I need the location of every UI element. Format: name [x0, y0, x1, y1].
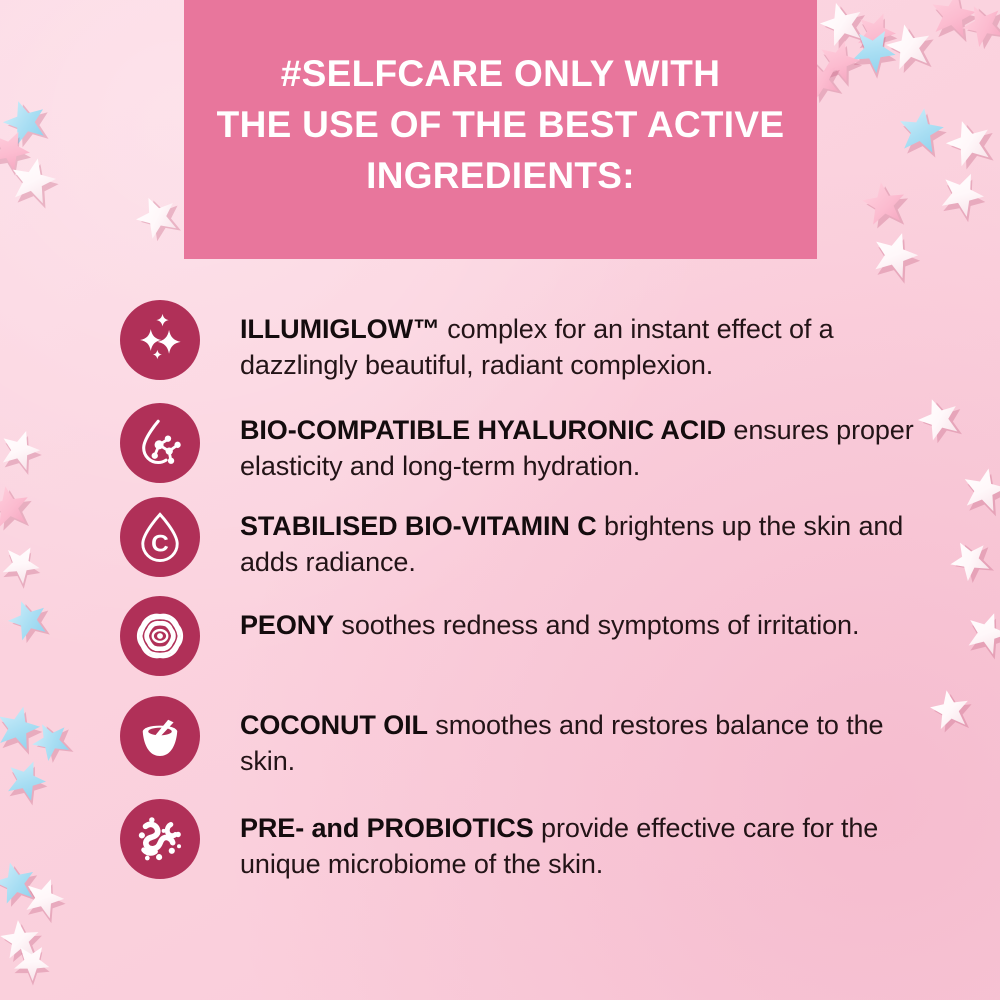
- confetti-star-icon: [18, 872, 69, 923]
- confetti-star-icon: [933, 165, 991, 223]
- confetti-star-shape: [866, 226, 924, 284]
- confetti-star-shape: [0, 94, 53, 149]
- confetti-star-shadow: [851, 11, 903, 63]
- confetti-star-shadow: [815, 40, 867, 92]
- confetti-star-icon: [850, 6, 902, 58]
- confetti-star-icon: [0, 483, 33, 532]
- confetti-star-shape: [859, 179, 909, 229]
- confetti-star-shape: [882, 20, 937, 75]
- confetti-star-shadow: [0, 861, 45, 912]
- ingredient-lead: BIO-COMPATIBLE HYALURONIC ACID: [240, 415, 726, 445]
- ingredient-item-illumiglow: ILLUMIGLOW™ complex for an instant effec…: [120, 300, 940, 383]
- confetti-star-icon: [0, 701, 45, 754]
- confetti-star-shape: [940, 114, 998, 172]
- droplet-molecule-icon: [120, 403, 200, 483]
- ingredient-lead: PEONY: [240, 610, 334, 640]
- confetti-star-shadow: [934, 170, 992, 228]
- confetti-star-shadow: [845, 26, 905, 86]
- confetti-star-shape: [958, 464, 1000, 516]
- confetti-star-shape: [0, 123, 37, 176]
- confetti-star-icon: [2, 594, 53, 645]
- confetti-star-icon: [0, 754, 52, 806]
- confetti-star-shape: [850, 6, 902, 58]
- ingredient-text: STABILISED BIO-VITAMIN C brightens up th…: [240, 497, 940, 580]
- confetti-star-icon: [866, 226, 924, 284]
- confetti-star-shape: [129, 189, 184, 244]
- confetti-star-icon: [0, 918, 42, 962]
- peony-flower-icon: [120, 596, 200, 676]
- confetti-star-shadow: [868, 232, 926, 290]
- confetti-star-shape: [2, 594, 53, 645]
- confetti-star-icon: [844, 20, 904, 80]
- confetti-star-icon: [926, 0, 979, 42]
- confetti-star-shadow: [0, 486, 37, 535]
- ingredient-text: PEONY soothes redness and symptoms of ir…: [240, 596, 940, 643]
- microbiome-icon: [120, 799, 200, 879]
- confetti-star-shadow: [1, 759, 53, 811]
- confetti-star-shadow: [8, 159, 63, 214]
- confetti-star-shape: [25, 715, 76, 766]
- ingredient-text: ILLUMIGLOW™ complex for an instant effec…: [240, 300, 940, 383]
- ingredient-lead: ILLUMIGLOW™: [240, 314, 440, 344]
- confetti-star-icon: [6, 154, 61, 209]
- confetti-star-icon: [7, 937, 57, 987]
- ingredient-text: PRE- and PROBIOTICS provide effective ca…: [240, 799, 940, 882]
- confetti-star-shape: [844, 20, 904, 80]
- confetti-star-shape: [0, 538, 47, 590]
- confetti-star-shape: [0, 754, 52, 806]
- ingredient-item-hyaluronic-acid: BIO-COMPATIBLE HYALURONIC ACID ensures p…: [120, 401, 940, 484]
- confetti-star-shape: [0, 918, 42, 962]
- page-title: #SELFCARE ONLY WITH THE USE OF THE BEST …: [217, 49, 785, 201]
- confetti-star-icon: [813, 35, 865, 87]
- confetti-star-shape: [815, 0, 869, 51]
- ingredient-item-probiotics: PRE- and PROBIOTICS provide effective ca…: [120, 799, 940, 882]
- coconut-drink-icon: [120, 696, 200, 776]
- ingredient-lead: PRE- and PROBIOTICS: [240, 813, 534, 843]
- confetti-star-icon: [895, 105, 947, 157]
- confetti-star-shape: [926, 0, 979, 42]
- confetti-star-icon: [129, 189, 184, 244]
- confetti-star-shadow: [947, 535, 1000, 590]
- confetti-star-shadow: [0, 128, 38, 181]
- confetti-star-shadow: [7, 597, 58, 648]
- svg-text:C: C: [151, 531, 169, 558]
- confetti-star-shape: [955, 0, 1000, 53]
- confetti-star-shadow: [7, 942, 57, 992]
- ingredient-item-coconut-oil: COCONUT OIL smoothes and restores balanc…: [120, 696, 940, 779]
- confetti-star-icon: [958, 464, 1000, 516]
- confetti-star-icon: [0, 858, 40, 909]
- confetti-star-shape: [0, 425, 45, 475]
- confetti-star-shadow: [819, 0, 873, 54]
- ingredient-lead: STABILISED BIO-VITAMIN C: [240, 511, 597, 541]
- confetti-star-shadow: [863, 183, 913, 233]
- confetti-star-shape: [960, 606, 1000, 660]
- confetti-star-icon: [955, 0, 1000, 53]
- confetti-star-shadow: [134, 192, 189, 247]
- confetti-star-icon: [815, 0, 869, 51]
- confetti-star-shadow: [929, 0, 982, 47]
- confetti-star-shadow: [886, 23, 941, 78]
- confetti-star-icon: [0, 123, 37, 176]
- confetti-star-shadow: [898, 110, 950, 162]
- confetti-star-icon: [0, 425, 45, 475]
- confetti-star-icon: [0, 538, 47, 590]
- ingredient-lead: COCONUT OIL: [240, 710, 428, 740]
- confetti-star-shape: [933, 165, 991, 223]
- confetti-star-shadow: [0, 706, 47, 759]
- confetti-star-icon: [960, 606, 1000, 660]
- confetti-star-shadow: [30, 717, 81, 768]
- headline-band: #SELFCARE ONLY WITH THE USE OF THE BEST …: [184, 0, 817, 259]
- poster-root: #SELFCARE ONLY WITH THE USE OF THE BEST …: [0, 0, 1000, 1000]
- confetti-star-shape: [0, 858, 40, 909]
- confetti-star-shadow: [962, 611, 1000, 665]
- confetti-star-shape: [813, 35, 865, 87]
- sparkle-icon: [120, 300, 200, 380]
- confetti-star-shape: [7, 937, 57, 987]
- confetti-star-shadow: [0, 430, 47, 480]
- confetti-star-shape: [895, 105, 947, 157]
- ingredient-rest: soothes redness and symptoms of irritati…: [334, 610, 859, 640]
- ingredient-text: COCONUT OIL smoothes and restores balanc…: [240, 696, 940, 779]
- confetti-star-shape: [0, 701, 45, 754]
- confetti-star-shadow: [945, 117, 1000, 175]
- confetti-star-icon: [943, 533, 998, 588]
- confetti-star-shape: [6, 154, 61, 209]
- confetti-star-icon: [940, 114, 998, 172]
- ingredient-text: BIO-COMPATIBLE HYALURONIC ACID ensures p…: [240, 401, 940, 484]
- confetti-star-shadow: [960, 0, 1000, 55]
- confetti-star-shadow: [2, 97, 57, 152]
- droplet-vitamin-c-icon: C: [120, 497, 200, 577]
- ingredient-item-peony: PEONY soothes redness and symptoms of ir…: [120, 596, 940, 676]
- ingredient-item-vitamin-c: C STABILISED BIO-VITAMIN C brightens up …: [120, 497, 940, 580]
- confetti-star-shape: [0, 483, 33, 532]
- confetti-star-shadow: [0, 543, 48, 595]
- confetti-star-shadow: [960, 469, 1000, 521]
- confetti-star-icon: [859, 179, 909, 229]
- confetti-star-icon: [0, 94, 53, 149]
- confetti-star-shape: [943, 533, 998, 588]
- ingredient-list: ILLUMIGLOW™ complex for an instant effec…: [120, 300, 940, 882]
- confetti-star-icon: [882, 20, 937, 75]
- confetti-star-shape: [18, 872, 69, 923]
- confetti-star-shadow: [2, 922, 46, 966]
- confetti-star-shadow: [20, 877, 71, 928]
- confetti-star-icon: [25, 715, 76, 766]
